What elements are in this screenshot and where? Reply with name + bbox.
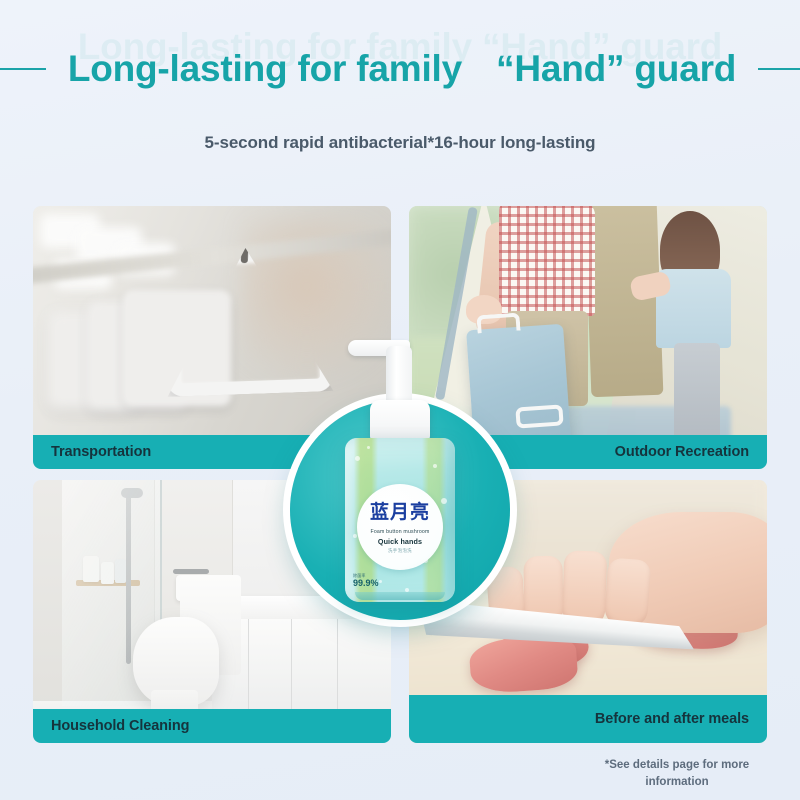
subheading-text: 5-second rapid antibacterial*16-hour lon…	[0, 133, 800, 153]
page-title: Long-lasting for family “Hand” guard	[68, 48, 736, 90]
caption-household: Household Cleaning	[33, 709, 391, 743]
label-line-quick-hands: Quick hands	[378, 537, 422, 546]
bottle-body: 蓝月亮 Foam button mushroom Quick hands 洗手泡…	[345, 438, 455, 602]
headline-rule-right	[758, 68, 800, 70]
headline-sub-text: “Hand” guard	[496, 48, 736, 90]
headline-main-text: Long-lasting for family	[68, 48, 462, 90]
badge-value-text: 99.9%	[353, 579, 379, 588]
headline-rule-left	[0, 68, 46, 70]
brand-logo-text: 蓝月亮	[370, 503, 430, 522]
footnote-disclaimer: *See details page for more information	[582, 757, 772, 790]
bottle-label: 蓝月亮 Foam button mushroom Quick hands 洗手泡…	[357, 484, 443, 570]
pump-neck	[386, 346, 412, 406]
product-bottle[interactable]: 蓝月亮 Foam button mushroom Quick hands 洗手泡…	[342, 338, 458, 608]
antibacterial-badge: 除菌率 99.9%	[353, 574, 379, 588]
page-header: Long-lasting for family “Hand” guard Lon…	[0, 0, 800, 185]
caption-meals-label: Before and after meals	[595, 710, 749, 729]
headline-row: Long-lasting for family “Hand” guard	[0, 48, 800, 90]
bottle-base	[355, 592, 445, 600]
caption-transportation-label: Transportation	[51, 444, 151, 460]
caption-outdoor-label: Outdoor Recreation	[615, 444, 749, 460]
caption-meals: Before and after meals	[409, 695, 767, 743]
caption-household-label: Household Cleaning	[51, 718, 189, 734]
pump-collar	[370, 400, 430, 442]
label-line-foam-button: Foam button mushroom	[370, 529, 429, 535]
label-line-cn-subtext: 洗手泡泡洗	[388, 548, 412, 554]
